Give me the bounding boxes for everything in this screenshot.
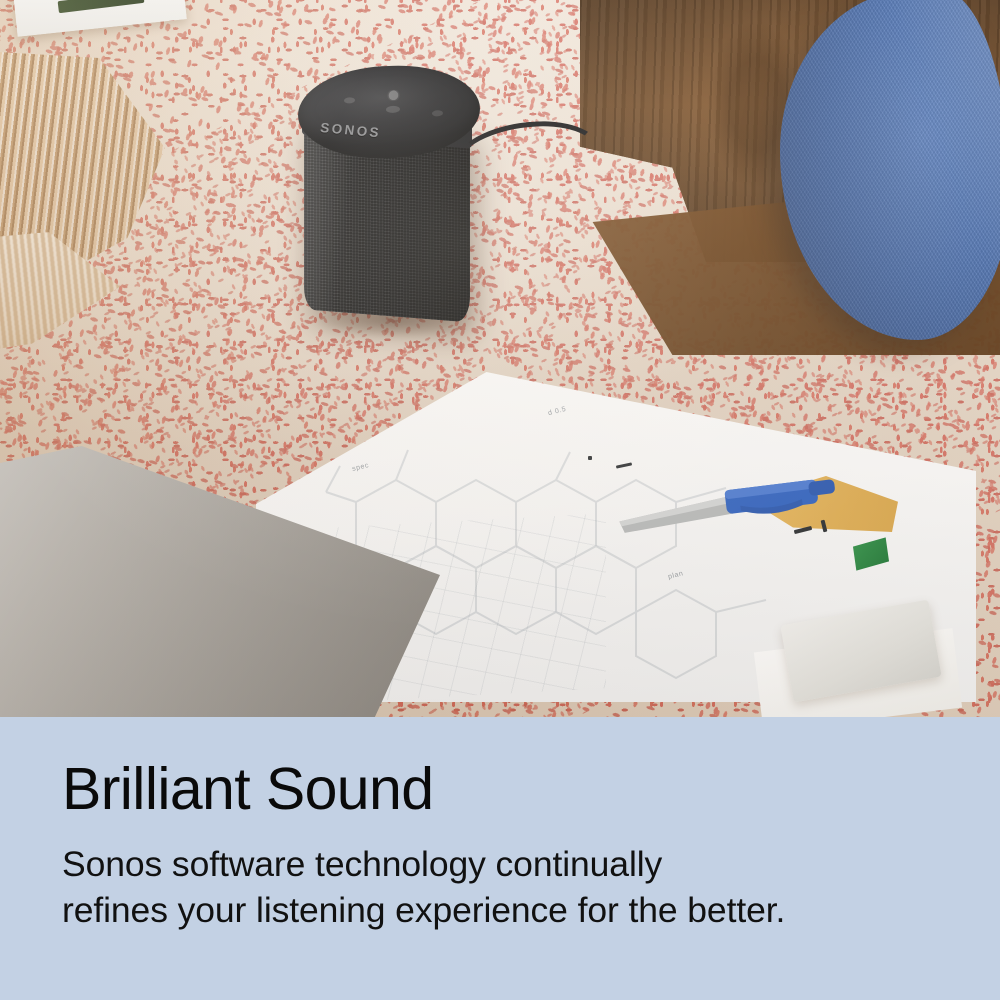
pen bbox=[614, 474, 844, 534]
product-feature-card: d 0.5 spec ref plan bbox=[0, 0, 1000, 1000]
sonos-speaker: SONOS bbox=[296, 66, 484, 324]
subcopy-line-1: Sonos software technology continually bbox=[62, 844, 662, 884]
blueprint-note: d 0.5 bbox=[547, 406, 567, 417]
caption-panel: Brilliant Sound Sonos software technolog… bbox=[0, 717, 1000, 1000]
microphone-icon[interactable] bbox=[386, 106, 400, 113]
volume-down-icon[interactable] bbox=[344, 97, 355, 103]
green-marker bbox=[853, 537, 889, 570]
blueprint-mark bbox=[588, 456, 592, 460]
subcopy-line-2: refines your listening experience for th… bbox=[62, 890, 785, 930]
headline: Brilliant Sound bbox=[62, 760, 940, 819]
subcopy: Sonos software technology continually re… bbox=[62, 841, 940, 933]
play-pause-icon[interactable] bbox=[384, 89, 403, 101]
product-lifestyle-photo: d 0.5 spec ref plan bbox=[0, 0, 1000, 717]
volume-up-icon[interactable] bbox=[432, 110, 443, 116]
